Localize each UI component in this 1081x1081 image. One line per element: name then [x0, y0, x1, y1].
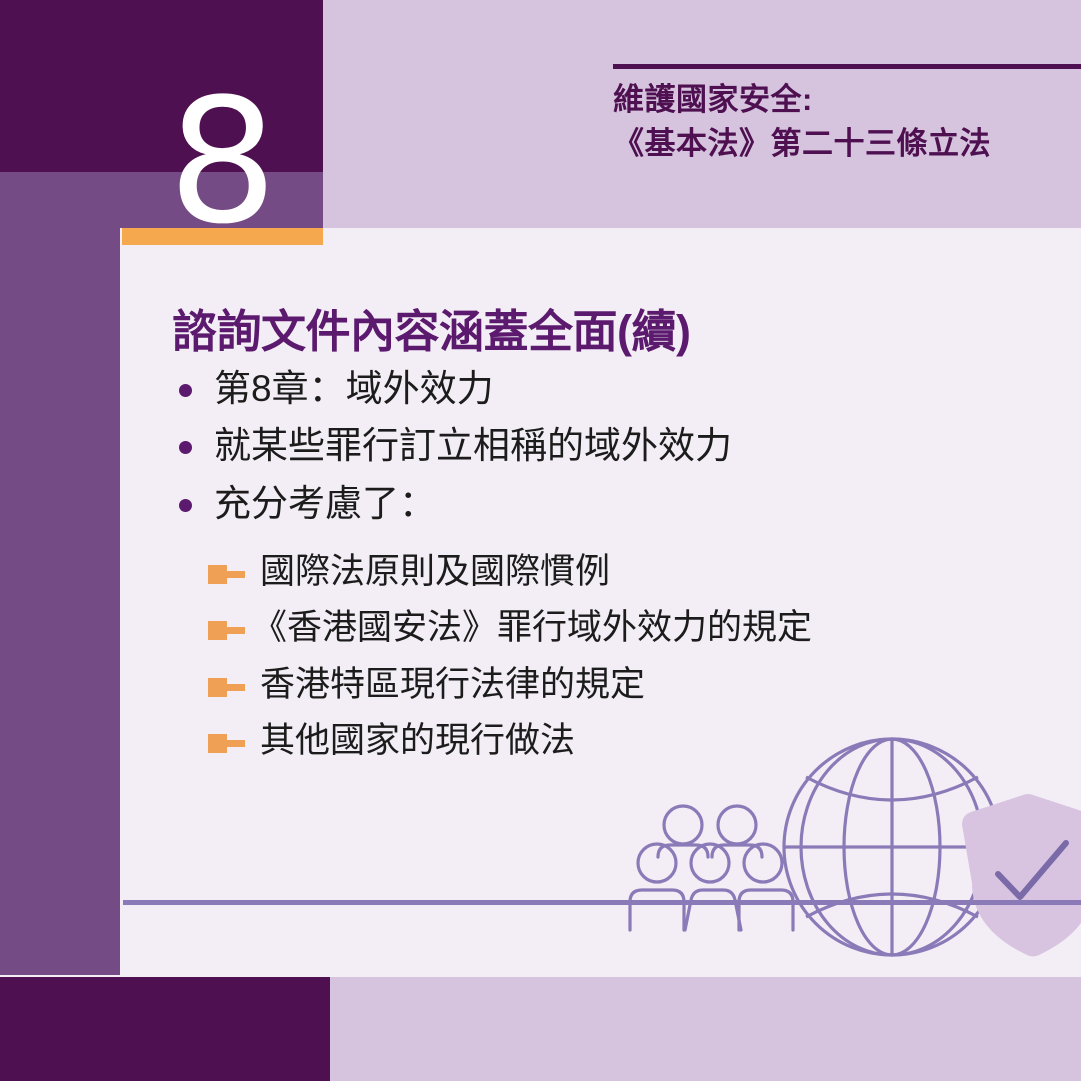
sub-list-item: 香港特區現行法律的規定: [208, 665, 1008, 705]
list-item-label: 充分考慮了：: [214, 483, 436, 524]
bottom-dark-block: [0, 977, 330, 1081]
mid-purple-left-column: [0, 172, 120, 975]
horizontal-baseline: [123, 900, 1081, 905]
arrow-marker-icon: [208, 734, 252, 753]
bullet-list: 第8章：域外效力 就某些罪行訂立相稱的域外效力 充分考慮了：: [172, 368, 972, 540]
arrow-marker-icon: [208, 621, 252, 640]
shield-check-icon: [962, 794, 1081, 957]
people-group-icon: [630, 806, 793, 930]
header-rule: [613, 64, 1081, 69]
sub-list-item: 國際法原則及國際慣例: [208, 552, 1008, 592]
list-item: 第8章：域外效力: [172, 368, 972, 409]
bullet-dot-icon: [179, 499, 192, 512]
slide-number: 8: [168, 76, 264, 248]
sub-list-item-label: 香港特區現行法律的規定: [260, 665, 645, 704]
sub-list-item-label: 國際法原則及國際慣例: [260, 552, 610, 591]
header-title: 維護國家安全: 《基本法》第二十三條立法: [613, 78, 1081, 166]
list-item-label: 第8章：域外效力: [214, 368, 494, 409]
list-item-label: 就某些罪行訂立相稱的域外效力: [214, 425, 732, 466]
presentation-slide: 維護國家安全: 《基本法》第二十三條立法 8 諮詢文件內容涵蓋全面(續) 第8章…: [0, 0, 1081, 1081]
bottom-lavender-block: [330, 977, 1081, 1081]
header-title-line-2: 《基本法》第二十三條立法: [613, 122, 1081, 166]
header-title-line-1: 維護國家安全:: [613, 78, 1081, 122]
illustration-globe-people-shield: [620, 715, 1081, 977]
sub-list-item-label: 《香港國安法》罪行域外效力的規定: [252, 608, 812, 647]
list-item: 就某些罪行訂立相稱的域外效力: [172, 425, 972, 466]
list-item: 充分考慮了：: [172, 483, 972, 524]
sub-list-item-label: 其他國家的現行做法: [260, 721, 575, 760]
bullet-dot-icon: [179, 384, 192, 397]
page-title: 諮詢文件內容涵蓋全面(續): [172, 295, 690, 360]
arrow-marker-icon: [208, 678, 252, 697]
bullet-dot-icon: [179, 441, 192, 454]
arrow-marker-icon: [208, 565, 252, 584]
sub-list-item: 《香港國安法》罪行域外效力的規定: [208, 608, 1008, 648]
